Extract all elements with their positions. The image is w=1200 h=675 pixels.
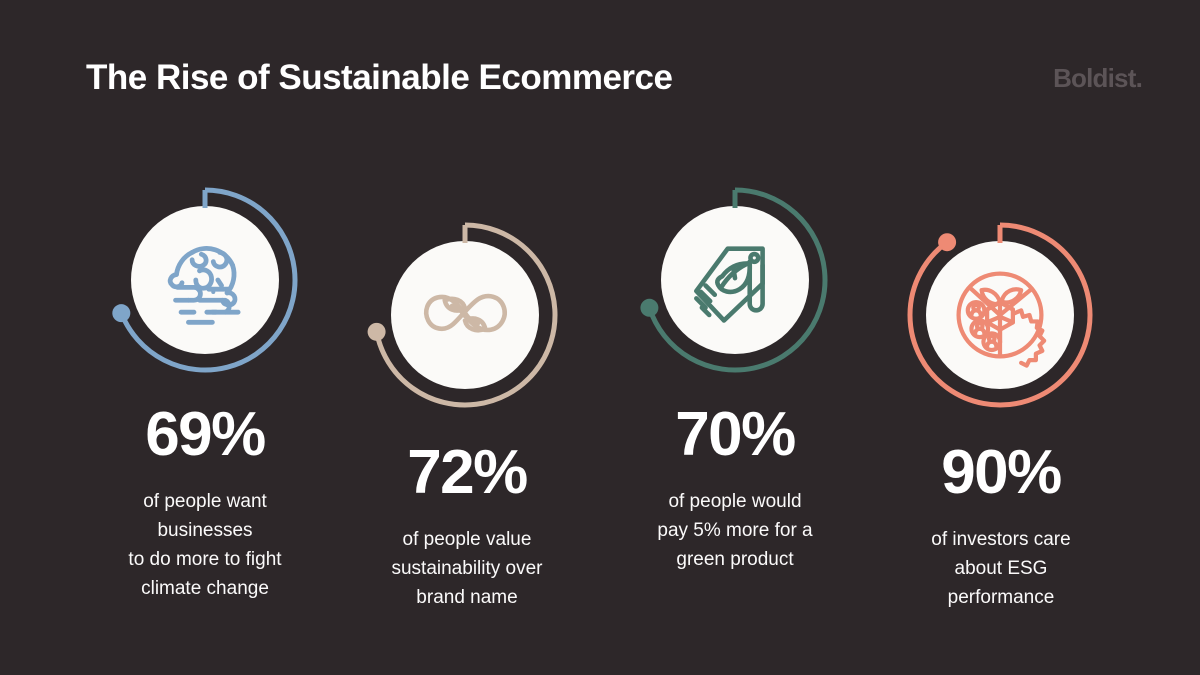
stat-value: 69%	[70, 404, 340, 466]
eco-price-tag-icon	[696, 249, 762, 321]
stat-block: 90% of investors care about ESG performa…	[866, 442, 1136, 613]
page-title: The Rise of Sustainable Ecommerce	[86, 58, 672, 98]
stat-ring	[368, 225, 555, 405]
progress-arc	[910, 225, 1090, 405]
icon-disc	[926, 241, 1074, 389]
stat-description: of people would pay 5% more for a green …	[600, 488, 870, 575]
stat-value: 70%	[600, 404, 870, 466]
progress-arc	[377, 225, 555, 405]
stat-block: 72% of people value sustainability over …	[332, 442, 602, 613]
stat-ring	[112, 190, 295, 370]
icon-disc	[131, 206, 279, 354]
stat-description: of investors care about ESG performance	[866, 526, 1136, 613]
icon-disc	[391, 241, 539, 389]
arc-end-dot	[368, 323, 386, 341]
infinity-leaf-icon	[426, 296, 504, 330]
infographic-canvas: The Rise of Sustainable Ecommerce Boldis…	[0, 0, 1200, 675]
arc-end-dot	[112, 304, 130, 322]
stat-ring	[910, 225, 1090, 405]
stat-ring	[640, 190, 825, 370]
progress-arc	[649, 190, 825, 370]
stat-value: 90%	[866, 442, 1136, 504]
progress-arc	[121, 190, 295, 370]
melting-globe-icon	[170, 248, 238, 322]
icon-disc	[661, 206, 809, 354]
stat-description: of people want businesses to do more to …	[70, 488, 340, 604]
stat-block: 70% of people would pay 5% more for a gr…	[600, 404, 870, 575]
stat-value: 72%	[332, 442, 602, 504]
stat-block: 69% of people want businesses to do more…	[70, 404, 340, 604]
stat-description: of people value sustainability over bran…	[332, 526, 602, 613]
brand-logo: Boldist.	[1053, 63, 1142, 94]
esg-wheel-icon	[959, 274, 1045, 366]
arc-end-dot	[938, 233, 956, 251]
arc-end-dot	[640, 299, 658, 317]
